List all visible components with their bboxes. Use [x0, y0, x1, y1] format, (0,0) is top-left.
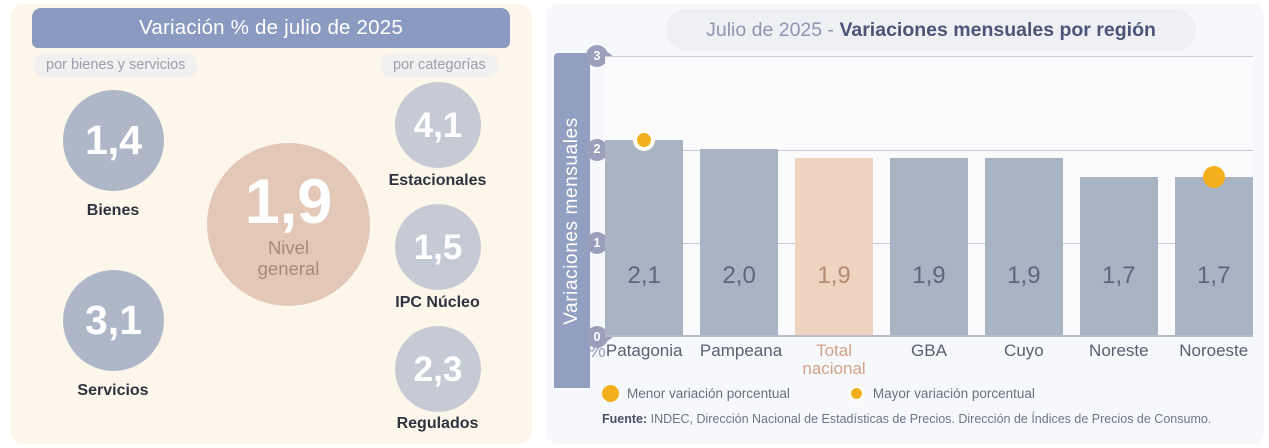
x-axis-label-line: Noreste [1080, 342, 1158, 360]
right-chart-panel: Julio de 2025 - Variaciones mensuales po… [546, 4, 1264, 444]
bar-value-label: 1,9 [912, 264, 945, 288]
bar-pampeana: 2,0 [700, 149, 778, 335]
metric-circle-ipc-nucleo: 1,5 [395, 204, 481, 290]
legend-label-mayor: Mayor variación porcentual [873, 386, 1035, 401]
chart-title-period: Julio de 2025 - [706, 19, 839, 41]
legend-label-menor: Menor variación porcentual [627, 386, 790, 401]
chart-legend: Menor variación porcentual Mayor variaci… [602, 385, 1093, 402]
bar-slot: 1,9 [985, 56, 1063, 335]
x-axis-label-noroeste: Noroeste [1175, 342, 1253, 378]
ring-dot-icon [633, 129, 655, 151]
group-label-categories: por categorías [381, 54, 498, 77]
bar-noroeste: 1,7 [1175, 177, 1253, 335]
y-tick-2-label: 2 [594, 143, 601, 156]
metric-label-bienes: Bienes [38, 202, 188, 220]
metric-circle-regulados: 2,3 [395, 326, 481, 412]
x-axis-label-line: Total [795, 342, 873, 360]
x-axis-label-noreste: Noreste [1080, 342, 1158, 378]
bar-cuyo: 1,9 [985, 158, 1063, 335]
bar-value-label: 1,9 [817, 264, 850, 288]
solid-dot-icon [602, 385, 619, 402]
chart-plot-area: 2,12,01,91,91,91,71,7 [605, 56, 1253, 337]
bar-slot: 1,7 [1080, 56, 1158, 335]
metric-label-nivel-general: Nivel general [258, 238, 320, 279]
solid-dot-icon [1203, 166, 1225, 188]
ring-dot-icon [848, 385, 865, 402]
legend-item-menor: Menor variación porcentual [602, 385, 790, 402]
y-tick-3-label: 3 [594, 50, 601, 63]
x-axis-label-line: Patagonia [605, 342, 683, 360]
bar-total-nacional: 1,9 [795, 158, 873, 335]
unit-percent-label: % [588, 340, 606, 363]
source-text: INDEC, Dirección Nacional de Estadística… [647, 412, 1211, 426]
y-tick-1-label: 1 [594, 237, 601, 250]
bar-series: 2,12,01,91,91,91,71,7 [605, 56, 1253, 335]
x-axis-label-pampeana: Pampeana [700, 342, 778, 378]
x-axis-label-cuyo: Cuyo [985, 342, 1063, 378]
metric-label-nivel-general-line2: general [258, 259, 320, 280]
bar-slot: 2,0 [700, 56, 778, 335]
metric-circle-servicios: 3,1 [63, 270, 164, 371]
metric-value-regulados: 2,3 [414, 352, 463, 387]
x-axis-label-line: Cuyo [985, 342, 1063, 360]
bar-value-label: 2,1 [628, 264, 661, 288]
metric-value-bienes: 1,4 [85, 120, 142, 161]
bar-gba: 1,9 [890, 158, 968, 335]
x-axis-label-patagonia: Patagonia [605, 342, 683, 378]
x-axis-labels: PatagoniaPampeanaTotalnacionalGBACuyoNor… [605, 342, 1253, 378]
left-summary-panel: Variación % de julio de 2025 por bienes … [10, 4, 532, 444]
infographic-root: Variación % de julio de 2025 por bienes … [0, 0, 1269, 448]
bar-value-label: 1,9 [1007, 264, 1040, 288]
bar-slot: 1,9 [890, 56, 968, 335]
y-axis-title: Variaciones mensuales [561, 117, 583, 325]
group-label-goods-services: por bienes y servicios [34, 54, 197, 77]
left-panel-header: Variación % de julio de 2025 [32, 8, 510, 48]
bar-value-label: 1,7 [1197, 264, 1230, 288]
x-axis-label-line: nacional [795, 360, 873, 378]
chart-title-main: Variaciones mensuales por región [839, 19, 1155, 41]
bar-slot: 1,7 [1175, 56, 1253, 335]
metric-circle-bienes: 1,4 [63, 90, 164, 191]
x-axis-label-gba: GBA [890, 342, 968, 378]
source-label: Fuente: [602, 412, 647, 426]
source-note: Fuente: INDEC, Dirección Nacional de Est… [602, 412, 1211, 426]
bar-noreste: 1,7 [1080, 177, 1158, 335]
metric-circle-estacionales: 4,1 [395, 82, 481, 168]
metric-label-regulados: Regulados [360, 415, 515, 433]
bar-value-label: 2,0 [722, 264, 755, 288]
x-axis-label-line: Pampeana [700, 342, 778, 360]
left-panel-title: Variación % de julio de 2025 [139, 16, 403, 40]
chart-title-pill: Julio de 2025 - Variaciones mensuales po… [666, 9, 1196, 51]
metric-label-servicios: Servicios [38, 382, 188, 400]
metric-value-estacionales: 4,1 [414, 108, 463, 143]
metric-label-nivel-general-line1: Nivel [258, 238, 320, 259]
x-axis-label-total-nacional: Totalnacional [795, 342, 873, 378]
bar-value-label: 1,7 [1102, 264, 1135, 288]
metric-circle-nivel-general: 1,9 Nivel general [207, 143, 370, 306]
bar-slot: 2,1 [605, 56, 683, 335]
y-axis-band: Variaciones mensuales [554, 53, 590, 388]
legend-item-mayor: Mayor variación porcentual [848, 385, 1035, 402]
metric-value-nivel-general: 1,9 [245, 173, 333, 233]
bar-slot: 1,9 [795, 56, 873, 335]
x-axis-label-line: GBA [890, 342, 968, 360]
metric-label-ipc-nucleo: IPC Núcleo [360, 294, 515, 312]
axis-baseline [605, 335, 1253, 337]
metric-label-estacionales: Estacionales [360, 172, 515, 190]
bar-patagonia: 2,1 [605, 140, 683, 335]
metric-value-servicios: 3,1 [85, 300, 142, 341]
x-axis-label-line: Noroeste [1175, 342, 1253, 360]
metric-value-ipc-nucleo: 1,5 [414, 230, 463, 265]
chart-title: Julio de 2025 - Variaciones mensuales po… [706, 19, 1156, 42]
